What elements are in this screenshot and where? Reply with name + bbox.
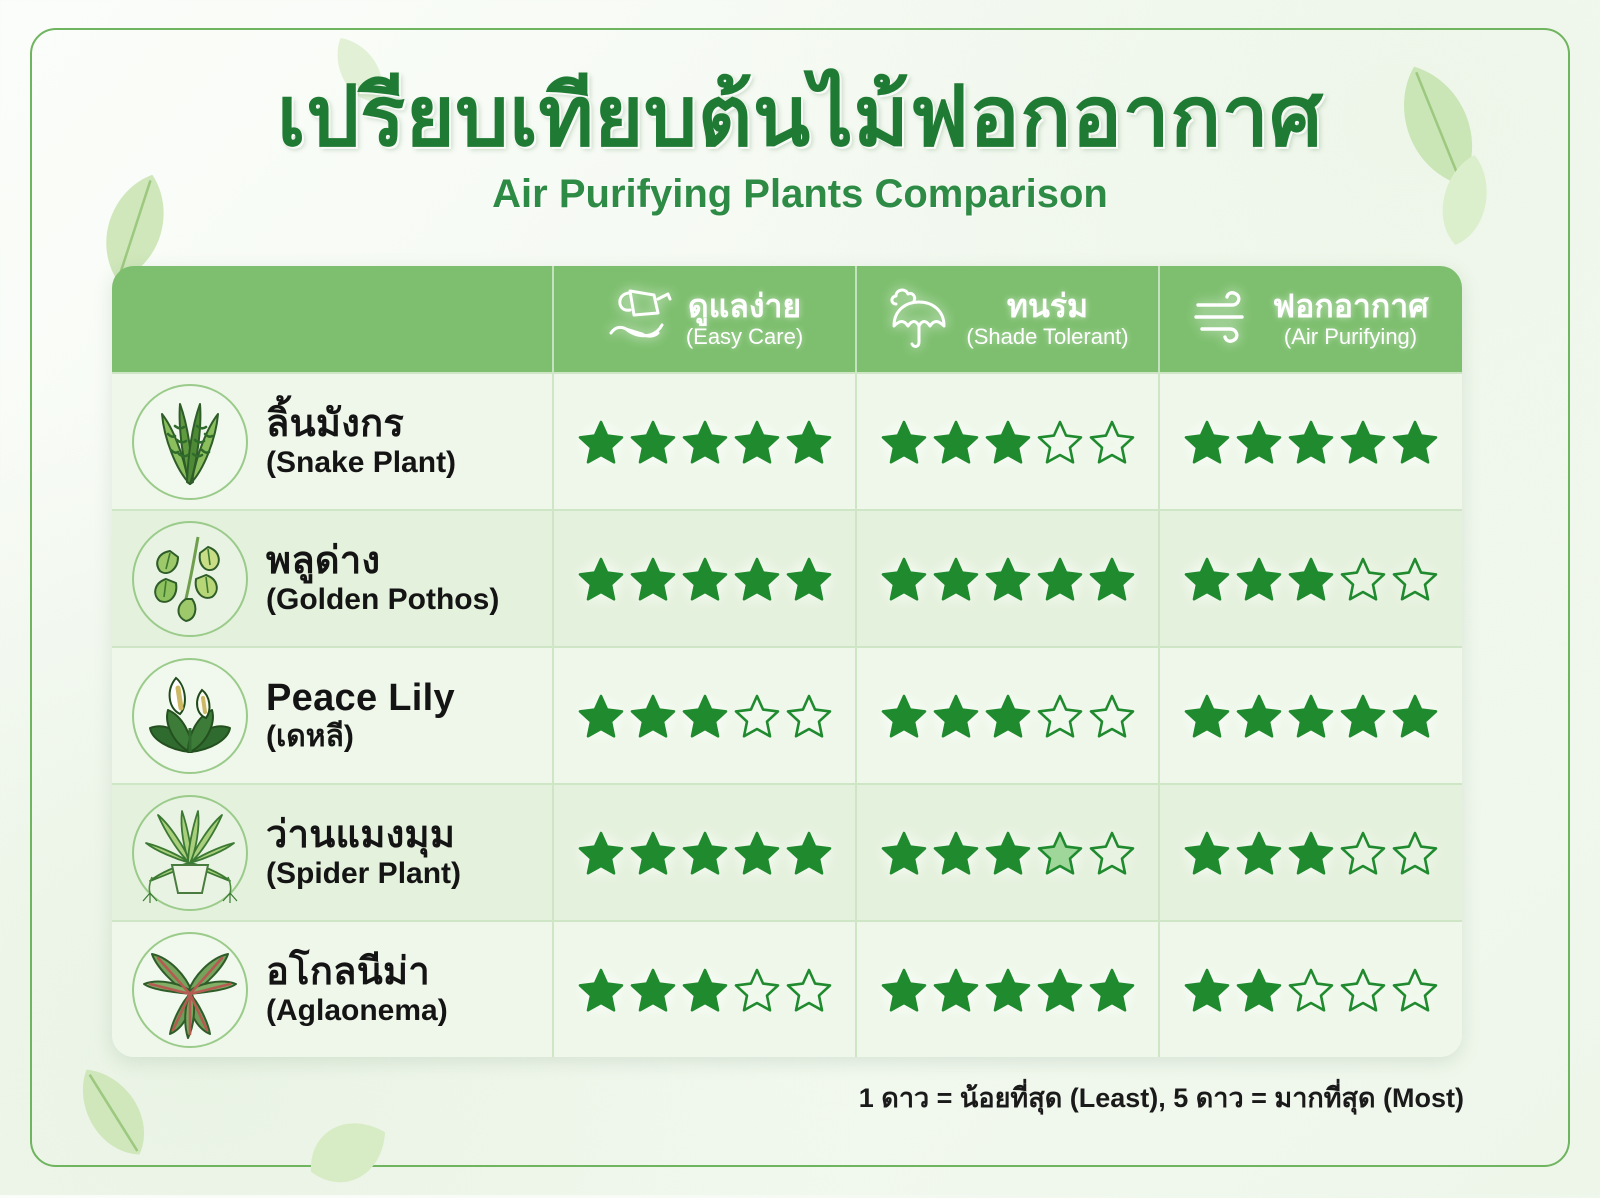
column-header-air-purifying-english: (Air Purifying) (1284, 324, 1417, 349)
star-empty (1088, 419, 1136, 465)
star-full (577, 967, 625, 1013)
star-empty (785, 967, 833, 1013)
star-full (1235, 556, 1283, 602)
column-header-easy-care: ดูแลง่าย (Easy Care) (552, 266, 855, 372)
page-subtitle-english: Air Purifying Plants Comparison (0, 172, 1600, 217)
table-row: ลิ้นมังกร (Snake Plant) (112, 372, 1462, 509)
column-header-easy-care-text: ดูแลง่าย (Easy Care) (686, 289, 803, 349)
column-header-shade-tolerant: ทนร่ม (Shade Tolerant) (855, 266, 1158, 372)
star-full (733, 830, 781, 876)
star-full (577, 830, 625, 876)
star-full (733, 419, 781, 465)
rating-easy-care (552, 511, 855, 646)
star-full (1287, 693, 1335, 739)
star-full (1183, 419, 1231, 465)
star-full (880, 419, 928, 465)
star-empty (1339, 967, 1387, 1013)
star-full (681, 693, 729, 739)
table-row: อโกลนีม่า (Aglaonema) (112, 920, 1462, 1057)
star-full (1235, 693, 1283, 739)
star-full (681, 830, 729, 876)
star-full (577, 693, 625, 739)
star-full (984, 419, 1032, 465)
watering-can-hand-icon (606, 283, 672, 356)
rating-easy-care (552, 922, 855, 1057)
table-row: ว่านแมงมุม (Spider Plant) (112, 783, 1462, 920)
page-title-thai: เปรียบเทียบต้นไม้ฟอกอากาศ (0, 72, 1600, 160)
poster-header: เปรียบเทียบต้นไม้ฟอกอากาศ Air Purifying … (0, 72, 1600, 217)
star-full (785, 830, 833, 876)
rating-easy-care (552, 785, 855, 920)
plant-name-english: (Spider Plant) (266, 857, 461, 890)
column-header-shade-tolerant-thai: ทนร่ม (1007, 288, 1088, 324)
star-full (1235, 967, 1283, 1013)
rating-air-purifying (1158, 511, 1461, 646)
star-empty (1036, 693, 1084, 739)
plant-cell: พลูด่าง (Golden Pothos) (112, 511, 552, 646)
plant-cell: อโกลนีม่า (Aglaonema) (112, 922, 552, 1057)
star-full (932, 556, 980, 602)
plant-name-english: (Golden Pothos) (266, 583, 499, 616)
star-full (880, 967, 928, 1013)
star-full (1391, 693, 1439, 739)
star-full (785, 556, 833, 602)
star-empty (1339, 830, 1387, 876)
star-full (1391, 419, 1439, 465)
star-full (629, 830, 677, 876)
rating-shade-tolerant (855, 374, 1158, 509)
star-full (577, 419, 625, 465)
table-row: Peace Lily (เดหลี) (112, 646, 1462, 783)
plant-name-block: Peace Lily (เดหลี) (266, 678, 455, 753)
table-row: พลูด่าง (Golden Pothos) (112, 509, 1462, 646)
star-full (1235, 830, 1283, 876)
star-full (577, 556, 625, 602)
column-header-shade-tolerant-english: (Shade Tolerant) (966, 324, 1128, 349)
star-empty (1339, 556, 1387, 602)
comparison-table: ดูแลง่าย (Easy Care) ทนร่ม (Shade Tolera… (112, 266, 1462, 1057)
plant-name-thai: อโกลนีม่า (266, 951, 430, 993)
star-full (1183, 967, 1231, 1013)
rating-legend-footnote: 1 ดาว = น้อยที่สุด (Least), 5 ดาว = มากท… (859, 1076, 1464, 1119)
star-full (932, 967, 980, 1013)
star-full (681, 556, 729, 602)
rating-air-purifying (1158, 785, 1461, 920)
star-full (1036, 556, 1084, 602)
star-full (1088, 556, 1136, 602)
plant-name-block: อโกลนีม่า (Aglaonema) (266, 952, 448, 1027)
rating-shade-tolerant (855, 922, 1158, 1057)
plant-cell: ลิ้นมังกร (Snake Plant) (112, 374, 552, 509)
star-full (1036, 967, 1084, 1013)
rating-air-purifying (1158, 648, 1461, 783)
column-header-easy-care-thai: ดูแลง่าย (688, 288, 801, 324)
star-empty (1287, 967, 1335, 1013)
star-full (1287, 556, 1335, 602)
rating-air-purifying (1158, 922, 1461, 1057)
star-full (1287, 830, 1335, 876)
star-full (1235, 419, 1283, 465)
star-empty (1391, 556, 1439, 602)
star-empty (1088, 693, 1136, 739)
star-full (681, 967, 729, 1013)
star-full (629, 693, 677, 739)
star-full (932, 830, 980, 876)
plant-name-thai: พลูด่าง (266, 540, 380, 582)
star-full (1183, 830, 1231, 876)
plant-cell: ว่านแมงมุม (Spider Plant) (112, 785, 552, 920)
star-full (1287, 419, 1335, 465)
star-full (984, 967, 1032, 1013)
star-empty (1036, 419, 1084, 465)
star-full (984, 830, 1032, 876)
star-full (1183, 556, 1231, 602)
star-full (932, 693, 980, 739)
star-empty (785, 693, 833, 739)
peace-lily-icon (132, 658, 248, 774)
column-header-air-purifying-text: ฟอกอากาศ (Air Purifying) (1272, 289, 1428, 349)
column-header-shade-tolerant-text: ทนร่ม (Shade Tolerant) (966, 289, 1128, 349)
star-full (629, 419, 677, 465)
plant-name-english: (Aglaonema) (266, 994, 448, 1027)
star-empty (1391, 967, 1439, 1013)
plant-name-block: ว่านแมงมุม (Spider Plant) (266, 815, 461, 890)
star-full (984, 556, 1032, 602)
aglaonema-icon (132, 932, 248, 1048)
column-header-air-purifying: ฟอกอากาศ (Air Purifying) (1158, 266, 1461, 372)
wind-icon (1192, 285, 1258, 354)
spider-plant-icon (132, 795, 248, 911)
rating-shade-tolerant (855, 648, 1158, 783)
star-empty (1088, 830, 1136, 876)
star-full (733, 556, 781, 602)
star-full (1339, 419, 1387, 465)
star-full (1183, 693, 1231, 739)
star-empty (733, 693, 781, 739)
column-header-easy-care-english: (Easy Care) (686, 324, 803, 349)
leaf-decoration-bottom-left (74, 1058, 152, 1166)
star-full (629, 967, 677, 1013)
table-header-row: ดูแลง่าย (Easy Care) ทนร่ม (Shade Tolera… (112, 266, 1462, 372)
star-full (880, 556, 928, 602)
leaf-decoration-bottom-center (292, 1106, 404, 1198)
star-full (681, 419, 729, 465)
column-header-plant (112, 266, 552, 372)
column-header-air-purifying-thai: ฟอกอากาศ (1272, 288, 1428, 324)
rating-shade-tolerant (855, 785, 1158, 920)
star-full (785, 419, 833, 465)
snake-plant-icon (132, 384, 248, 500)
star-full (1088, 967, 1136, 1013)
rating-easy-care (552, 374, 855, 509)
rating-shade-tolerant (855, 511, 1158, 646)
star-full (984, 693, 1032, 739)
plant-name-english: (เดหลี) (266, 720, 354, 753)
star-full (932, 419, 980, 465)
plant-cell: Peace Lily (เดหลี) (112, 648, 552, 783)
star-full (880, 693, 928, 739)
star-empty (1391, 830, 1439, 876)
star-full (1339, 693, 1387, 739)
plant-name-block: พลูด่าง (Golden Pothos) (266, 541, 499, 616)
rating-air-purifying (1158, 374, 1461, 509)
golden-pothos-icon (132, 521, 248, 637)
plant-name-thai: ลิ้นมังกร (266, 403, 404, 445)
rating-easy-care (552, 648, 855, 783)
plant-name-thai: Peace Lily (266, 677, 455, 719)
star-partial (1036, 830, 1084, 876)
plant-name-block: ลิ้นมังกร (Snake Plant) (266, 404, 456, 479)
star-full (880, 830, 928, 876)
umbrella-cloud-icon (886, 282, 952, 357)
star-empty (733, 967, 781, 1013)
star-full (629, 556, 677, 602)
plant-name-english: (Snake Plant) (266, 446, 456, 479)
plant-name-thai: ว่านแมงมุม (266, 814, 455, 856)
